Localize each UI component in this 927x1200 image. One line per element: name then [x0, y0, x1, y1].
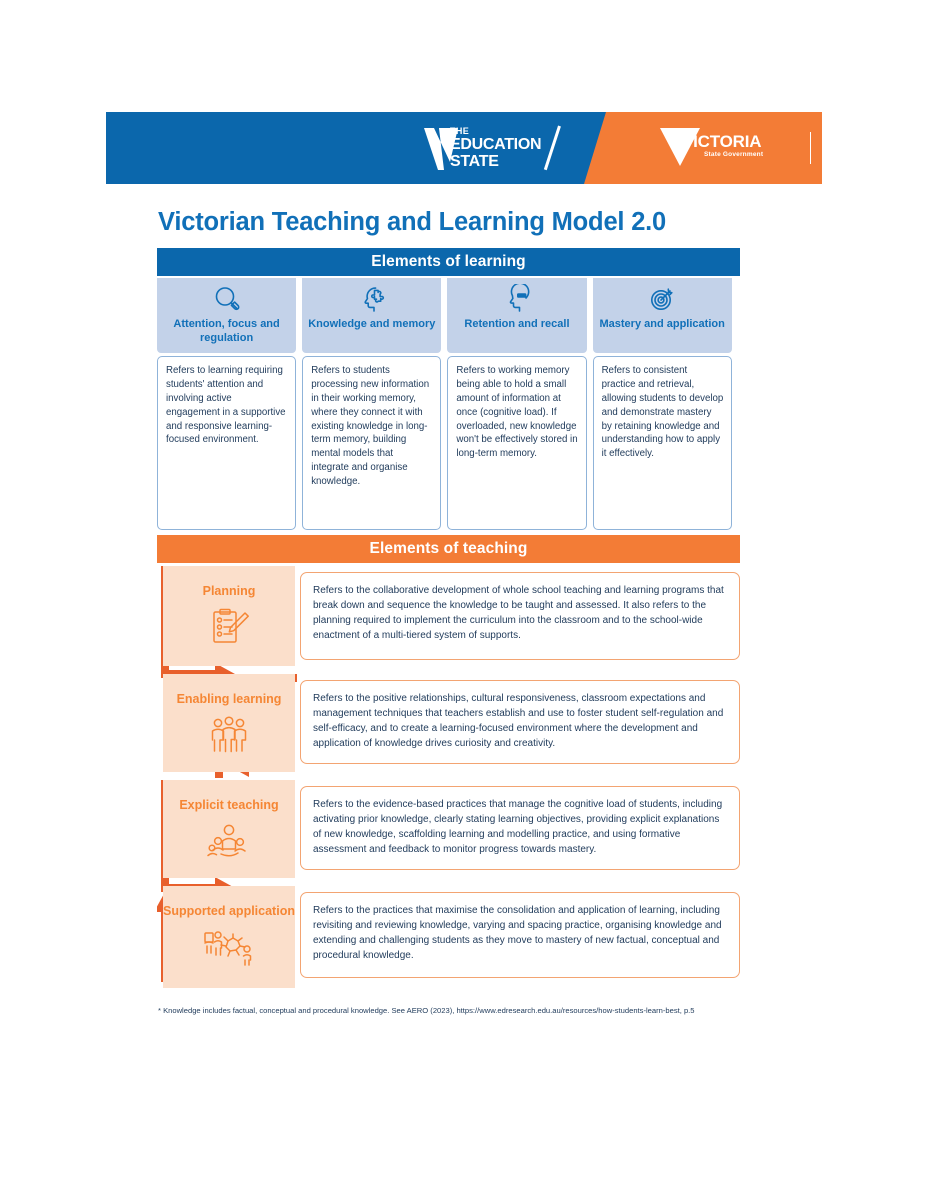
learning-columns: Attention, focus and regulation Refers t…: [157, 278, 740, 530]
teaching-label: Supported application: [163, 904, 295, 920]
magnifying-glass-icon: [212, 282, 242, 316]
section-header-teaching: Elements of teaching: [157, 535, 740, 563]
logo-slash-icon: [544, 126, 574, 172]
teaching-label-box: Supported application: [163, 886, 295, 988]
edu-logo-line1: THE: [450, 127, 541, 136]
teaching-label-box: Enabling learning: [163, 674, 295, 772]
clipboard-pencil-icon: [208, 606, 250, 648]
section-header-learning: Elements of learning: [157, 248, 740, 276]
teaching-body: Refers to the positive relationships, cu…: [300, 680, 740, 764]
learning-column-title: Knowledge and memory: [304, 318, 439, 332]
teaching-rows: Planning Refers to the collaborative dev…: [157, 566, 740, 1001]
learning-column-body: Refers to working memory being able to h…: [447, 356, 586, 530]
three-people-icon: [206, 714, 252, 756]
education-state-logo: THE EDUCATION STATE: [424, 126, 574, 172]
learning-column-title: Mastery and application: [596, 318, 729, 332]
head-with-brain-icon: [502, 282, 532, 316]
learning-column-head: Retention and recall: [447, 278, 586, 353]
teaching-label-box: Planning: [163, 566, 295, 666]
target-with-arrow-icon: [647, 282, 677, 316]
teaching-body: Refers to the collaborative development …: [300, 572, 740, 660]
teaching-label: Explicit teaching: [179, 798, 278, 814]
edu-logo-line3: STATE: [450, 154, 541, 170]
footnote: * Knowledge includes factual, conceptual…: [158, 1005, 748, 1018]
teaching-row-planning: Planning Refers to the collaborative dev…: [157, 566, 740, 666]
learning-column-body: Refers to learning requiring students' a…: [157, 356, 296, 530]
edu-logo-line2: EDUCATION: [450, 137, 541, 153]
learning-column-head: Mastery and application: [593, 278, 732, 353]
victoria-wordmark: VICTORIA: [682, 132, 761, 152]
learning-column-head: Attention, focus and regulation: [157, 278, 296, 353]
teaching-row-supported-application: Supported application Refers to the prac…: [157, 886, 740, 988]
learning-column-title: Retention and recall: [460, 318, 573, 332]
page-title: Victorian Teaching and Learning Model 2.…: [158, 208, 666, 237]
teaching-body: Refers to the evidence-based practices t…: [300, 786, 740, 870]
teaching-row-explicit-teaching: Explicit teaching Refers to th: [157, 780, 740, 878]
teaching-label-box: Explicit teaching: [163, 780, 295, 878]
learning-column-head: Knowledge and memory: [302, 278, 441, 353]
students-collaborating-icon: [201, 926, 257, 968]
victoria-state-government-logo: VICTORIA State Government Department of …: [660, 126, 822, 172]
teacher-with-group-icon: [205, 820, 253, 862]
learning-column-body: Refers to consistent practice and retrie…: [593, 356, 732, 530]
victoria-sub-wordmark: State Government: [704, 151, 763, 160]
brand-banner: THE EDUCATION STATE VICTORIA State Gover…: [106, 112, 822, 184]
learning-column-attention: Attention, focus and regulation Refers t…: [157, 278, 296, 530]
learning-column-title: Attention, focus and regulation: [157, 318, 296, 346]
teaching-body: Refers to the practices that maximise th…: [300, 892, 740, 978]
learning-column-retention: Retention and recall Refers to working m…: [447, 278, 586, 530]
teaching-label: Planning: [203, 584, 256, 600]
infographic-page: THE EDUCATION STATE VICTORIA State Gover…: [0, 0, 927, 1200]
head-with-puzzle-icon: [357, 282, 387, 316]
teaching-row-enabling-learning: Enabling learning Refers to the positive…: [157, 674, 740, 772]
learning-column-knowledge: Knowledge and memory Refers to students …: [302, 278, 441, 530]
learning-column-mastery: Mastery and application Refers to consis…: [593, 278, 732, 530]
learning-column-body: Refers to students processing new inform…: [302, 356, 441, 530]
logo-divider: [810, 132, 811, 164]
teaching-label: Enabling learning: [177, 692, 282, 708]
